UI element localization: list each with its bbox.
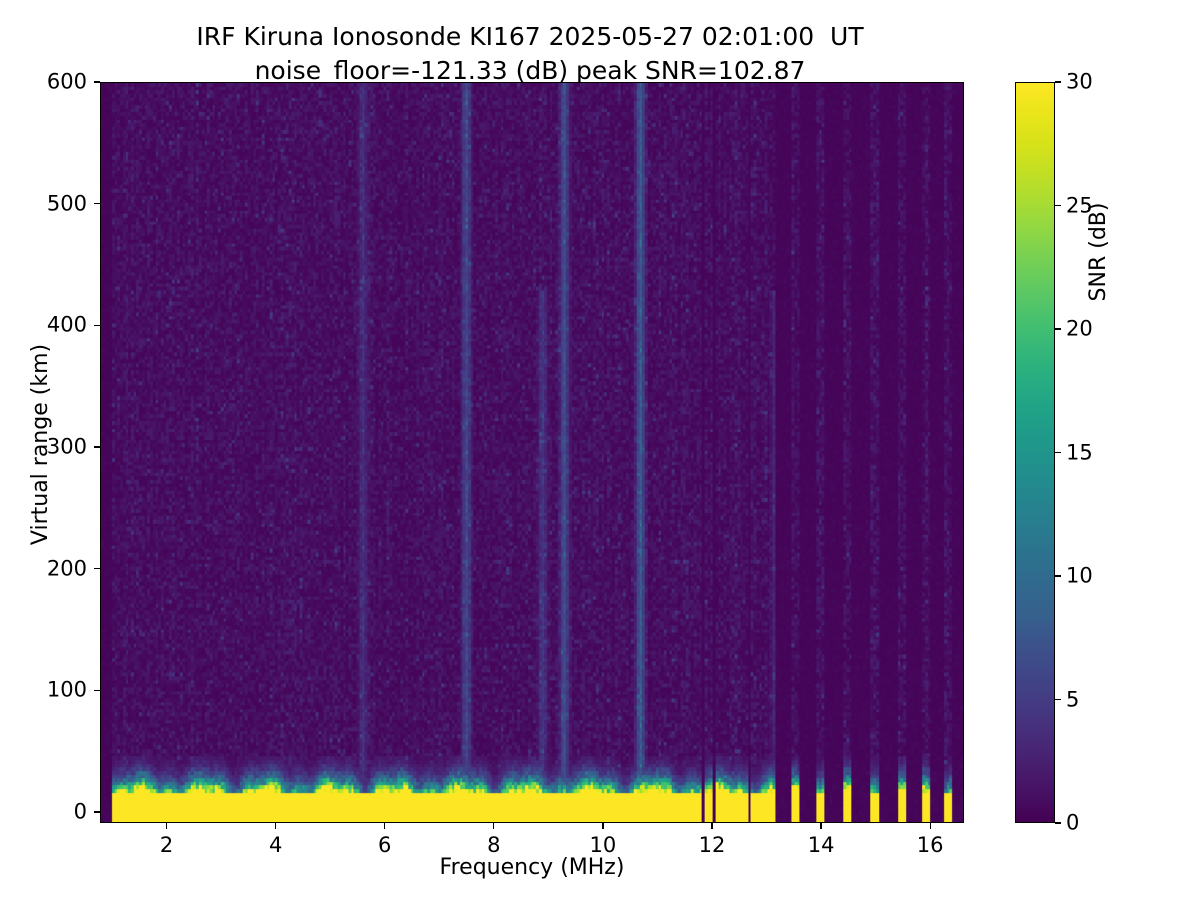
- colorbar-tick-mark: [1055, 699, 1061, 700]
- x-tick-label: 4: [269, 835, 282, 856]
- colorbar-tick-label: 10: [1066, 566, 1093, 587]
- y-tick-mark: [94, 446, 100, 447]
- colorbar-tick-mark: [1055, 205, 1061, 206]
- ionogram-heatmap: [101, 83, 963, 822]
- colorbar-tick-mark: [1055, 822, 1061, 823]
- title-line-1: IRF Kiruna Ionosonde KI167 2025-05-27 02…: [0, 20, 1060, 54]
- x-tick-mark: [275, 823, 276, 829]
- x-tick-mark: [820, 823, 821, 829]
- x-tick-mark: [384, 823, 385, 829]
- x-tick-label: 8: [487, 835, 500, 856]
- colorbar-label: SNR (dB): [1086, 52, 1111, 452]
- ionogram-figure: IRF Kiruna Ionosonde KI167 2025-05-27 02…: [0, 0, 1200, 900]
- colorbar-tick-mark: [1055, 328, 1061, 329]
- x-axis-label: Frequency (MHz): [100, 855, 964, 880]
- colorbar-tick-mark: [1055, 81, 1061, 82]
- x-tick-mark: [930, 823, 931, 829]
- x-tick-label: 10: [590, 835, 617, 856]
- figure-title: IRF Kiruna Ionosonde KI167 2025-05-27 02…: [0, 20, 1060, 88]
- x-tick-label: 14: [808, 835, 835, 856]
- x-tick-mark: [711, 823, 712, 829]
- x-tick-mark: [602, 823, 603, 829]
- x-tick-mark: [166, 823, 167, 829]
- colorbar-tick-mark: [1055, 575, 1061, 576]
- x-tick-label: 6: [378, 835, 391, 856]
- x-tick-label: 16: [917, 835, 944, 856]
- colorbar-tick-mark: [1055, 452, 1061, 453]
- x-tick-mark: [493, 823, 494, 829]
- x-tick-label: 12: [699, 835, 726, 856]
- y-tick-mark: [94, 81, 100, 82]
- y-tick-mark: [94, 811, 100, 812]
- y-tick-mark: [94, 568, 100, 569]
- ionogram-axes: [100, 82, 964, 823]
- colorbar: [1015, 82, 1055, 823]
- y-tick-mark: [94, 690, 100, 691]
- y-axis-label: Virtual range (km): [28, 74, 53, 815]
- y-tick-mark: [94, 325, 100, 326]
- y-tick-mark: [94, 203, 100, 204]
- colorbar-tick-label: 0: [1066, 813, 1079, 834]
- x-tick-label: 2: [160, 835, 173, 856]
- colorbar-tick-label: 5: [1066, 689, 1079, 710]
